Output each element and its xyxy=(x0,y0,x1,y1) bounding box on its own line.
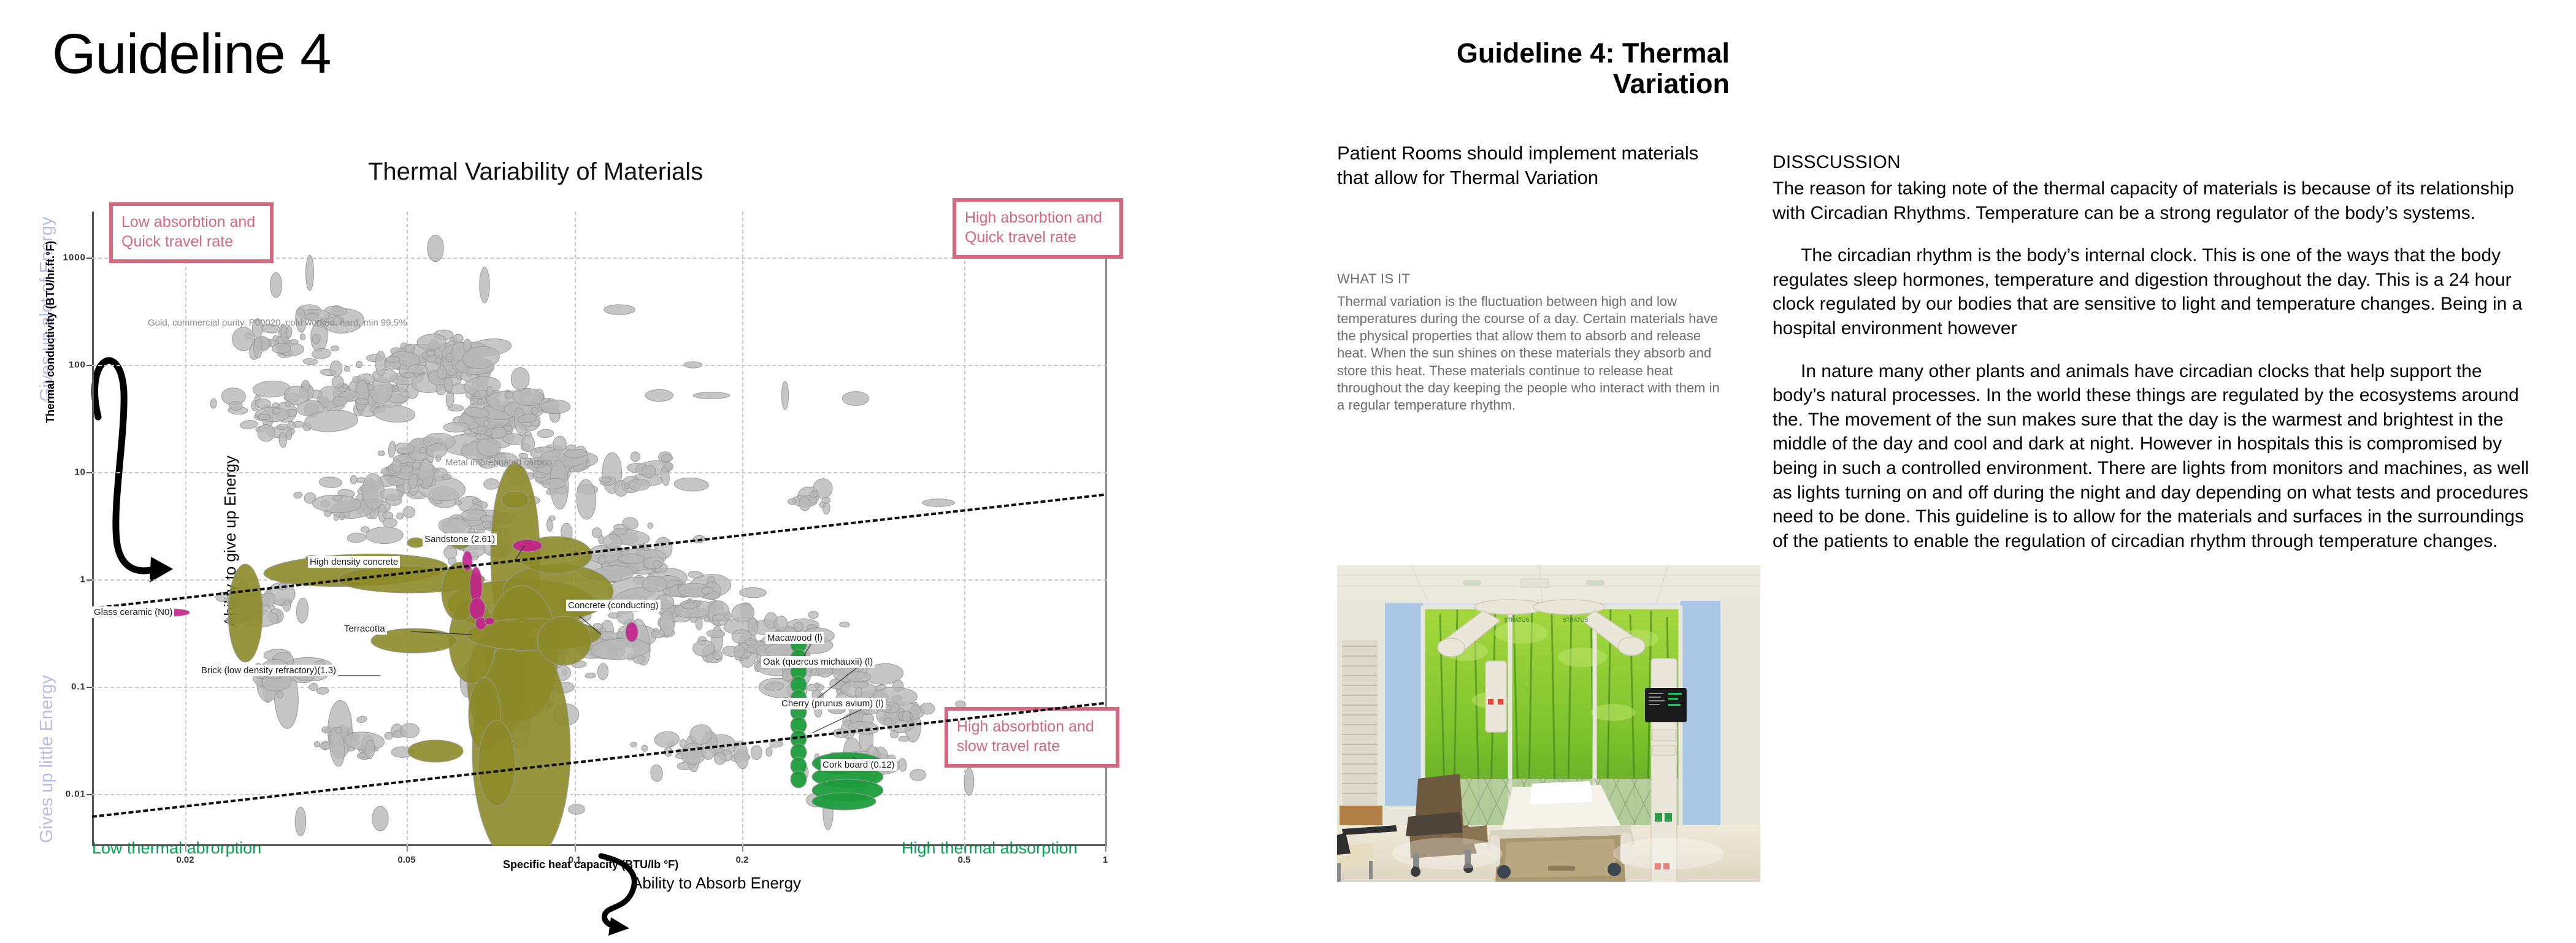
x-hand-annotation-text: Ability to Absorb Energy xyxy=(632,874,801,893)
ytick-0.1: 0.1 xyxy=(71,682,86,692)
ytickmark-1000 xyxy=(86,258,92,259)
x-arrow-icon xyxy=(601,853,724,933)
callout-low-absorption-quick: Low absorbtion and Quick travel rate xyxy=(109,202,274,263)
hospital-room-photo: STRATUS STRATUS xyxy=(1337,565,1760,882)
ytick-10: 10 xyxy=(74,467,86,478)
xtickmark-0.05 xyxy=(407,846,408,852)
callout-line-2: High absorbtion and Quick travel rate xyxy=(965,209,1102,246)
what-is-it-body: Thermal variation is the fluctuation bet… xyxy=(1337,293,1730,414)
material-label-glass-ceramic: Glass ceramic (N0) xyxy=(92,606,174,618)
material-label-cork-board: Cork board (0.12) xyxy=(821,759,897,771)
material-label-high-density-concrete: High density concrete xyxy=(308,556,400,568)
xtick-0.1: 0.1 xyxy=(569,855,581,865)
ytickmark-0.1 xyxy=(86,687,92,688)
svg-text:STRATUS: STRATUS xyxy=(1563,617,1588,623)
xtickmark-0.5 xyxy=(964,846,965,852)
discussion-paragraph-3: In nature many other plants and animals … xyxy=(1773,359,2530,554)
xtick-0.5: 0.5 xyxy=(958,855,971,865)
y-axis-label: Thermal conductivity (BTU/hr.ft.°F) xyxy=(44,241,57,423)
material-label-metal-carbon: Metal impregnated carbon xyxy=(443,457,554,468)
text-panel: Guideline 4: Thermal Variation Patient R… xyxy=(1276,0,2576,943)
page-title: Guideline 4 xyxy=(52,26,331,82)
material-label-gold: Gold, commercial purity, P00020, cold wo… xyxy=(146,317,408,329)
ytickmark-0.01 xyxy=(86,794,92,795)
callout-high-absorption-slow: High absorbtion and slow travel rate xyxy=(945,707,1119,768)
xtickmark-0.02 xyxy=(185,846,186,852)
xtick-0.02: 0.02 xyxy=(176,855,194,865)
xtickmark-1 xyxy=(1105,846,1106,852)
ytick-1000: 1000 xyxy=(63,253,86,263)
ytick-0.01: 0.01 xyxy=(66,789,86,800)
material-label-cherry: Cherry (prunus avium) (l) xyxy=(780,698,886,709)
slide-canvas: Guideline 4 Thermal Variability of Mater… xyxy=(0,0,2576,943)
discussion-label: DISSCUSSION xyxy=(1773,152,1901,173)
xtickmark-0.1 xyxy=(575,846,576,852)
material-label-terracotta: Terracotta xyxy=(342,623,387,635)
callout-line-1: Low absorbtion and Quick travel rate xyxy=(121,213,255,250)
xtick-1: 1 xyxy=(1103,855,1108,865)
material-label-brick: Brick (low density refractory)(1.3) xyxy=(199,665,338,676)
ytickmark-100 xyxy=(86,365,92,366)
y-descriptor-bottom: Gives up little Energy xyxy=(37,675,57,843)
chart-panel: Guideline 4 Thermal Variability of Mater… xyxy=(0,0,1276,943)
material-label-sandstone: Sandstone (2.61) xyxy=(423,533,497,545)
discussion-body: The reason for taking note of the therma… xyxy=(1773,177,2530,571)
callout-line-3: High absorbtion and slow travel rate xyxy=(957,718,1094,755)
svg-text:STRATUS: STRATUS xyxy=(1504,617,1529,623)
guideline-statement: Patient Rooms should implement materials… xyxy=(1337,141,1717,191)
ytick-100: 100 xyxy=(69,360,86,370)
ytickmark-1 xyxy=(86,579,92,581)
material-label-macawood: Macawood (l) xyxy=(765,632,824,644)
ytick-1: 1 xyxy=(80,575,86,585)
hospital-room-illustration: STRATUS STRATUS xyxy=(1337,565,1760,882)
ytickmark-10 xyxy=(86,472,92,473)
discussion-paragraph-2: The circadian rhythm is the body’s inter… xyxy=(1773,243,2530,340)
material-label-oak: Oak (quercus michauxii) (l) xyxy=(761,656,875,668)
xtickmark-0.2 xyxy=(742,846,743,852)
xtick-0.2: 0.2 xyxy=(736,855,749,865)
guideline-heading: Guideline 4: Thermal Variation xyxy=(1337,38,1730,100)
discussion-paragraph-1: The reason for taking note of the therma… xyxy=(1773,177,2530,225)
callout-high-absorption-quick: High absorbtion and Quick travel rate xyxy=(953,198,1123,259)
what-is-it-label: WHAT IS IT xyxy=(1337,271,1410,287)
material-label-concrete-conducting: Concrete (conducting) xyxy=(566,600,661,611)
chart-title: Thermal Variability of Materials xyxy=(368,158,703,186)
xtick-0.05: 0.05 xyxy=(397,855,415,865)
